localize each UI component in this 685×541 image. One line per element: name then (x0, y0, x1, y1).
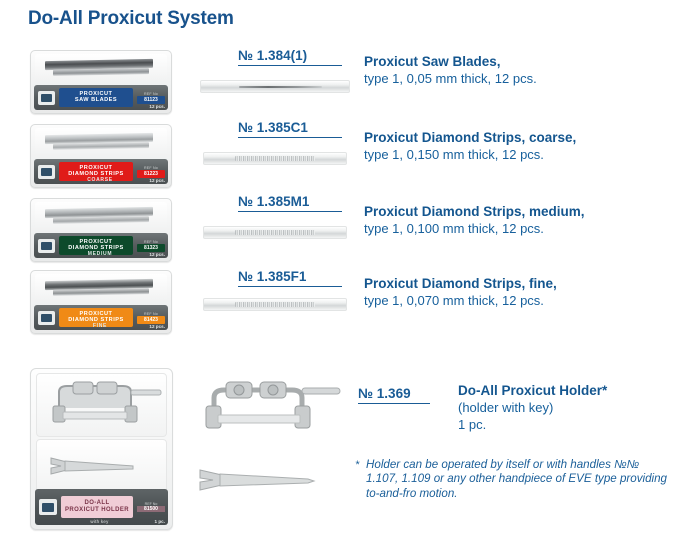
holder-frame-icon (37, 374, 169, 436)
package-ref-top: REF No (137, 240, 165, 244)
package-ref: REF No 81123 (137, 92, 165, 104)
product-name: Proxicut Saw Blades, (364, 53, 537, 70)
package-quantity: 12 pcs. (149, 104, 165, 109)
footnote-text: Holder can be operated by itself or with… (355, 458, 667, 501)
package-label-line2: SAW BLADES (75, 98, 117, 104)
package-quantity: 12 pcs. (149, 252, 165, 257)
strip-image-secondary (53, 142, 149, 150)
strip-image-secondary (53, 216, 149, 224)
package-grade: MEDIUM (55, 251, 145, 257)
package-ref: REF No 81500 (137, 502, 165, 512)
brand-logo-icon (38, 239, 55, 253)
holder-key-photo (196, 460, 346, 500)
brand-logo-icon (38, 165, 55, 179)
package-tray-key (36, 439, 167, 493)
package-label-holder: DO-ALL PROXICUT HOLDER (61, 496, 133, 518)
strip-image-secondary (53, 288, 149, 296)
catalog-page: Do-All Proxicut System PROXICUT SAW BLAD… (0, 0, 685, 541)
package-tray (35, 274, 167, 304)
package-label: PROXICUT SAW BLADES (59, 88, 133, 107)
package-ref: REF No 81323 (137, 240, 165, 252)
product-package-medium: PROXICUT DIAMOND STRIPS REF No 81323 MED… (30, 198, 172, 262)
blade-image-secondary (53, 68, 149, 76)
package-tray (35, 54, 167, 84)
package-ref: REF No 81423 (137, 312, 165, 324)
brand-logo-icon (39, 499, 57, 515)
product-description-holder: Do-All Proxicut Holder* (holder with key… (458, 382, 607, 433)
product-package-fine: PROXICUT DIAMOND STRIPS REF No 81423 FIN… (30, 270, 172, 334)
package-tray (35, 202, 167, 232)
product-spec: type 1, 0,150 mm thick, 12 pcs. (364, 146, 576, 163)
package-tray (35, 128, 167, 158)
package-quantity: 1 pc. (155, 519, 165, 524)
package-ref: REF No 81223 (137, 166, 165, 178)
order-number-1369[interactable]: № 1.369 (358, 386, 430, 404)
order-number-1385M1[interactable]: № 1.385M1 (238, 194, 342, 212)
product-photo-saw-blade (200, 80, 350, 93)
footnote: * Holder can be operated by itself or wi… (355, 458, 667, 501)
package-grade: COARSE (55, 177, 145, 183)
product-description-4: Proxicut Diamond Strips, fine, type 1, 0… (364, 275, 557, 309)
product-description-1: Proxicut Saw Blades, type 1, 0,05 mm thi… (364, 53, 537, 87)
package-label-line2: PROXICUT HOLDER (65, 507, 129, 514)
package-label-line1: DO-ALL (84, 500, 109, 507)
package-tray-holder (36, 373, 167, 437)
package-ref-code: 81500 (137, 506, 165, 512)
package-label-band: PROXICUT SAW BLADES REF No 81123 (34, 85, 168, 110)
product-photo-strip-fine (203, 298, 347, 311)
package-ref-top: REF No (137, 166, 165, 170)
product-photo-strip-coarse (203, 152, 347, 165)
product-spec: type 1, 0,100 mm thick, 12 pcs. (364, 220, 585, 237)
package-sublabel: with key (57, 519, 142, 524)
product-description-3: Proxicut Diamond Strips, medium, type 1,… (364, 203, 585, 237)
order-number-1385C1[interactable]: № 1.385C1 (238, 120, 342, 138)
package-quantity: 12 pcs. (149, 178, 165, 183)
product-photo-strip-medium (203, 226, 347, 239)
product-spec-line2: 1 pc. (458, 416, 607, 433)
package-ref-top: REF No (137, 312, 165, 316)
product-description-2: Proxicut Diamond Strips, coarse, type 1,… (364, 129, 576, 163)
footnote-star: * (355, 458, 359, 472)
page-title: Do-All Proxicut System (28, 8, 234, 30)
product-name: Do-All Proxicut Holder* (458, 382, 607, 399)
product-name: Proxicut Diamond Strips, coarse, (364, 129, 576, 146)
holder-photo (196, 378, 346, 438)
product-spec-line1: (holder with key) (458, 399, 607, 416)
wrench-key-icon (37, 440, 169, 490)
package-ref-top: REF No (137, 92, 165, 96)
brand-logo-icon (38, 91, 55, 105)
order-number-1385F1[interactable]: № 1.385F1 (238, 269, 342, 287)
product-name: Proxicut Diamond Strips, fine, (364, 275, 557, 292)
package-grade: FINE (55, 323, 145, 329)
product-package-coarse: PROXICUT DIAMOND STRIPS REF No 81223 COA… (30, 124, 172, 188)
order-number-1384[interactable]: № 1.384(1) (238, 48, 342, 66)
package-ref-code: 81123 (137, 96, 165, 104)
package-quantity: 12 pcs. (149, 324, 165, 329)
product-spec: type 1, 0,070 mm thick, 12 pcs. (364, 292, 557, 309)
product-package-saw-blades: PROXICUT SAW BLADES REF No 81123 12 pcs. (30, 50, 172, 114)
product-name: Proxicut Diamond Strips, medium, (364, 203, 585, 220)
product-package-holder: DO-ALL PROXICUT HOLDER REF No 81500 with… (30, 368, 173, 530)
product-spec: type 1, 0,05 mm thick, 12 pcs. (364, 70, 537, 87)
brand-logo-icon (38, 311, 55, 325)
